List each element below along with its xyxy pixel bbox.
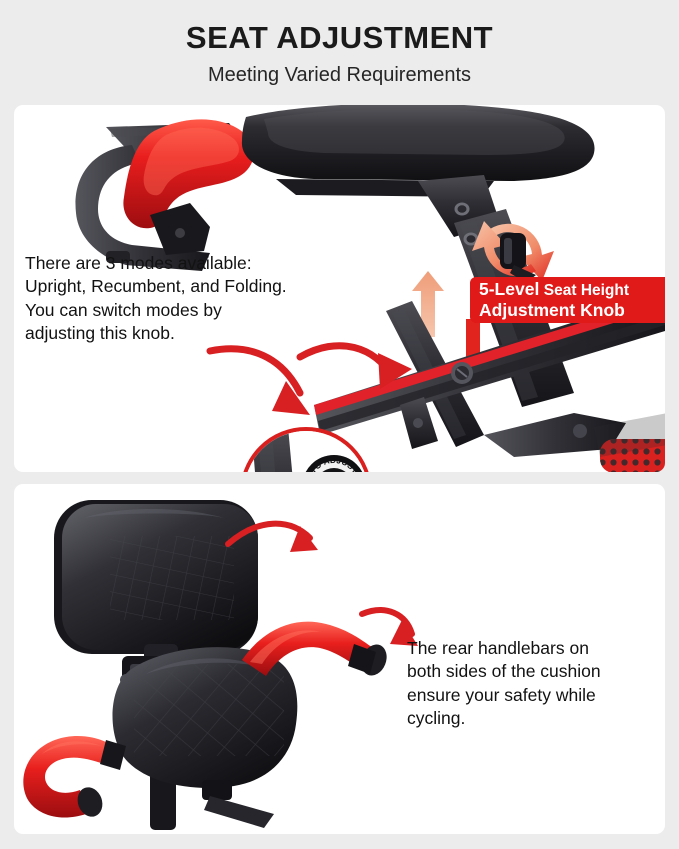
saddle-cushion xyxy=(113,647,298,828)
badge-seat-height-strong: 5-Level xyxy=(479,279,539,299)
curved-arrow-to-magnifier-icon xyxy=(210,349,310,415)
magnifier-circle: LOOSEN TO ADJUST THEN PULL xyxy=(242,427,370,472)
handlebars-line-2: both sides of the cushion xyxy=(407,660,647,683)
badge-seat-height: 5-Level Seat Height Adjustment Knob xyxy=(470,277,665,323)
handlebars-line-3: ensure your safety while xyxy=(407,684,647,707)
handlebar-right xyxy=(242,622,391,680)
infographic-page: SEAT ADJUSTMENT Meeting Varied Requireme… xyxy=(0,0,679,849)
modes-paragraph: There are 3 modes available: Upright, Re… xyxy=(25,252,325,345)
page-title: SEAT ADJUSTMENT xyxy=(0,20,679,56)
page-subtitle: Meeting Varied Requirements xyxy=(0,64,679,87)
badge-seat-height-normal: Seat Height xyxy=(544,282,629,299)
handlebars-line-1: The rear handlebars on xyxy=(407,637,647,660)
modes-line-2: Upright, Recumbent, and Folding. xyxy=(25,275,325,298)
modes-line-1: There are 3 modes available: xyxy=(25,252,325,275)
seat-cushion xyxy=(242,105,595,197)
upper-frame-group xyxy=(75,119,253,271)
badge-seat-height-line2: Adjustment Knob xyxy=(479,300,625,320)
handlebars-paragraph: The rear handlebars on both sides of the… xyxy=(407,637,647,730)
handlebar-left xyxy=(23,736,126,820)
backrest-pad xyxy=(54,500,258,654)
modes-line-3: You can switch modes by xyxy=(25,299,325,322)
handlebars-line-4: cycling. xyxy=(407,707,647,730)
page-header: SEAT ADJUSTMENT Meeting Varied Requireme… xyxy=(0,0,679,100)
modes-line-4: adjusting this knob. xyxy=(25,322,325,345)
